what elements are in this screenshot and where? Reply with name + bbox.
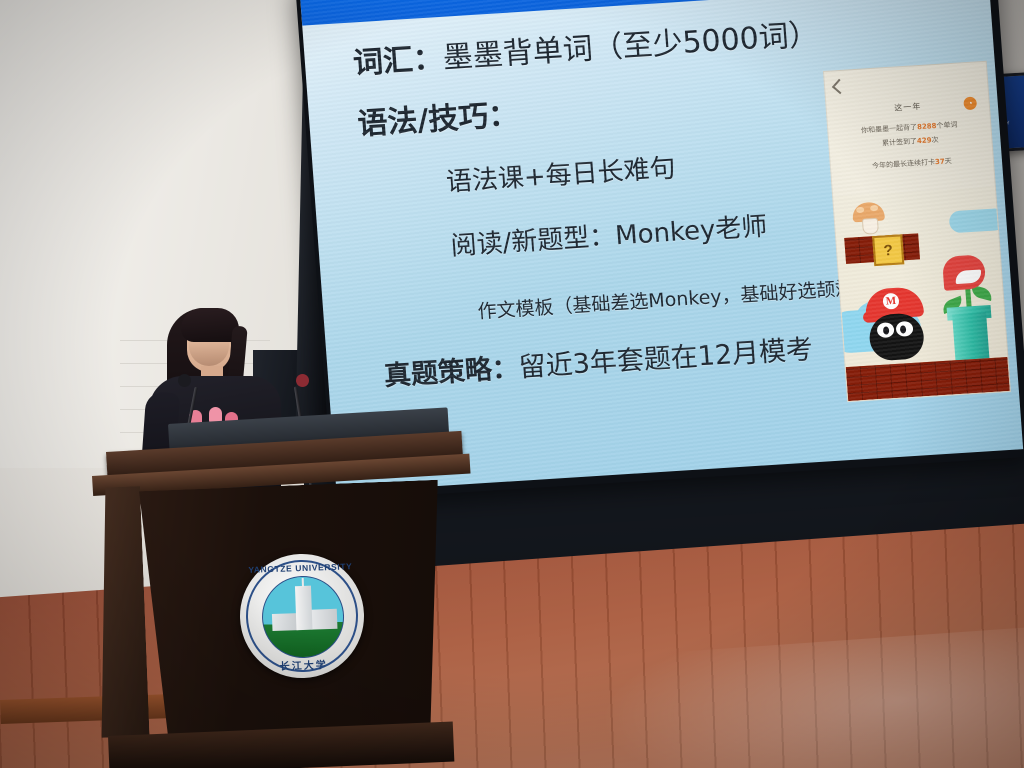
mario-body (868, 312, 925, 361)
presenter-hair-front (181, 308, 239, 342)
seal-building-left-wing (272, 613, 299, 631)
app-stat-3-value: 37 (935, 158, 945, 167)
lectern-base (108, 722, 454, 768)
mushroom-stem (862, 218, 879, 235)
app-title: 这一年 (827, 97, 989, 118)
app-stat-2-prefix: 累计签到了 (882, 137, 918, 147)
mario-character: M (862, 286, 929, 362)
slide-line-6-text: 留近3年套题在12月模考 (518, 334, 814, 383)
app-stat-3-prefix: 今年的最长连续打卡 (872, 158, 935, 170)
question-block-icon: ? (872, 234, 904, 266)
app-stat-1-suffix: 个单词 (936, 121, 958, 130)
app-stat-1-prefix: 你和墨墨一起背了 (861, 123, 917, 134)
mario-game-illustration: ? M (833, 186, 1010, 401)
cloud-icon (949, 208, 1007, 233)
slide-line-6-label: 真题策略： (383, 352, 520, 391)
chevron-left-icon (832, 79, 848, 95)
green-pipe (952, 312, 989, 360)
app-stat-2-value: 429 (917, 136, 932, 145)
app-stat-streak: 今年的最长连续打卡37天 (831, 154, 993, 174)
lectern-side-panel (92, 486, 150, 738)
slide-line-1-label: 词汇： (352, 41, 444, 82)
seal-building-tower (295, 586, 313, 631)
slide-line-2-label: 语法/技巧： (356, 98, 519, 143)
seal-building-right-wing (311, 609, 338, 630)
app-stat-3-suffix: 天 (944, 157, 952, 165)
app-stat-1-value: 8288 (917, 122, 937, 131)
lectern: YANGTZE UNIVERSITY 长江大学 (78, 418, 450, 768)
app-screenshot: ◔ 这一年 你和墨墨一起背了8288个单词 累计签到了429次 今年的最长连续打… (823, 61, 1011, 402)
podium-university-seal: YANGTZE UNIVERSITY 长江大学 (238, 552, 366, 680)
slide-line-1-text: 墨墨背单词（至少5000词） (442, 17, 820, 76)
lecture-hall-photo: 长江大学 YANGTZE UNIVERSITY 词汇：墨墨背单词（至少5000词… (0, 0, 1024, 768)
mushroom-icon (852, 201, 886, 233)
app-stat-2-suffix: 次 (931, 136, 939, 144)
